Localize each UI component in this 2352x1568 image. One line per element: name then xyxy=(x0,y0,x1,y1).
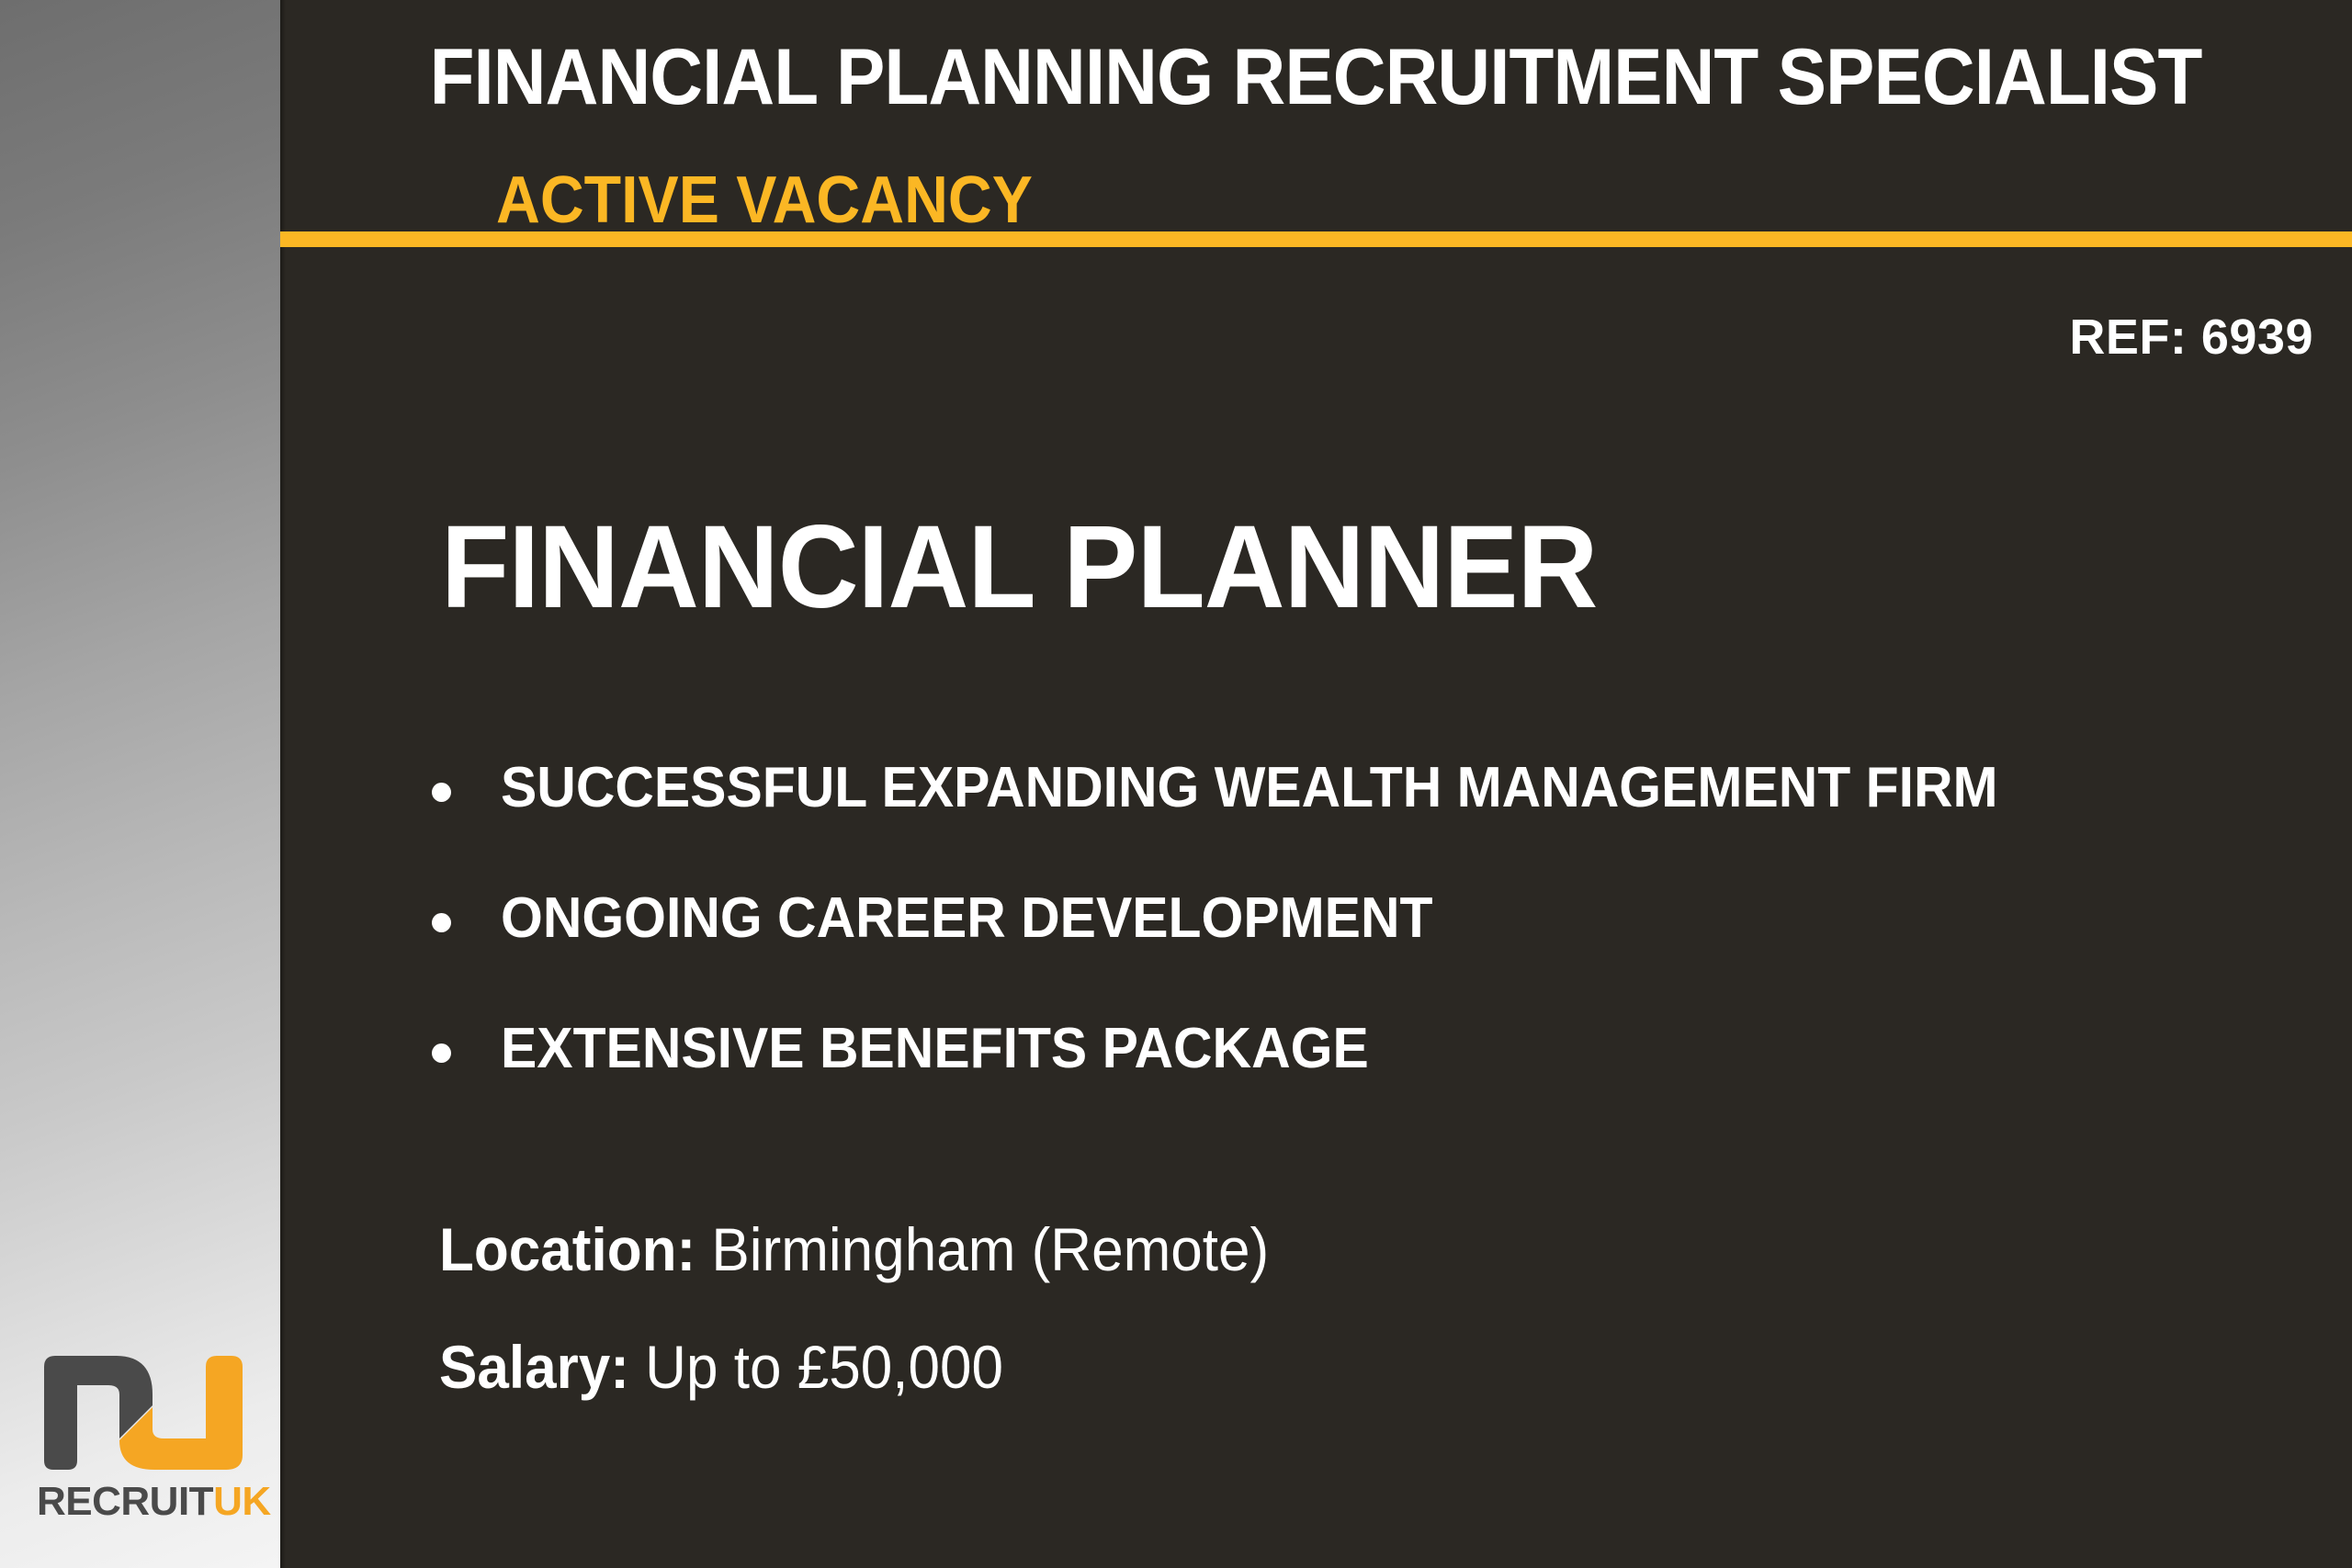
job-highlights-list: SUCCESSFUL EXPANDING WEALTH MANAGEMENT F… xyxy=(432,753,2306,1145)
list-item: ONGOING CAREER DEVELOPMENT xyxy=(432,884,2306,1014)
side-gradient-panel xyxy=(0,0,280,1568)
logo-wordmark-primary: RECRUIT xyxy=(37,1479,213,1524)
detail-row-location: Location: Birmingham (Remote) xyxy=(439,1213,2166,1330)
list-item: EXTENSIVE BENEFITS PACKAGE xyxy=(432,1014,2306,1145)
page-title: FINANCIAL PLANNING RECRUITMENT SPECIALIS… xyxy=(376,33,2256,121)
detail-value: Up to £50,000 xyxy=(645,1333,1003,1401)
job-details: Location: Birmingham (Remote) Salary: Up… xyxy=(439,1213,2277,1448)
reference-number: REF: 6939 xyxy=(2069,309,2313,366)
list-item-label: SUCCESSFUL EXPANDING WEALTH MANAGEMENT F… xyxy=(501,753,1998,823)
detail-label: Salary: xyxy=(439,1333,629,1401)
detail-label: Location: xyxy=(439,1215,695,1283)
job-title: FINANCIAL PLANNER xyxy=(441,503,1597,632)
detail-value: Birmingham (Remote) xyxy=(711,1215,1269,1283)
list-item: SUCCESSFUL EXPANDING WEALTH MANAGEMENT F… xyxy=(432,753,2306,884)
vacancy-poster: RECRUITUK FINANCIAL PLANNING RECRUITMENT… xyxy=(0,0,2352,1568)
recruit-uk-monogram-icon xyxy=(35,1354,255,1472)
status-badge: ACTIVE VACANCY xyxy=(496,162,1033,239)
logo-wordmark: RECRUITUK xyxy=(37,1480,257,1524)
bullet-dot-icon xyxy=(432,783,451,802)
list-item-label: ONGOING CAREER DEVELOPMENT xyxy=(501,884,1432,953)
detail-row-salary: Salary: Up to £50,000 xyxy=(439,1330,2166,1448)
bullet-dot-icon xyxy=(432,913,451,932)
list-item-label: EXTENSIVE BENEFITS PACKAGE xyxy=(501,1014,1369,1084)
recruit-uk-logo: RECRUITUK xyxy=(35,1354,255,1524)
bullet-dot-icon xyxy=(432,1043,451,1063)
logo-wordmark-secondary: UK xyxy=(213,1479,271,1524)
